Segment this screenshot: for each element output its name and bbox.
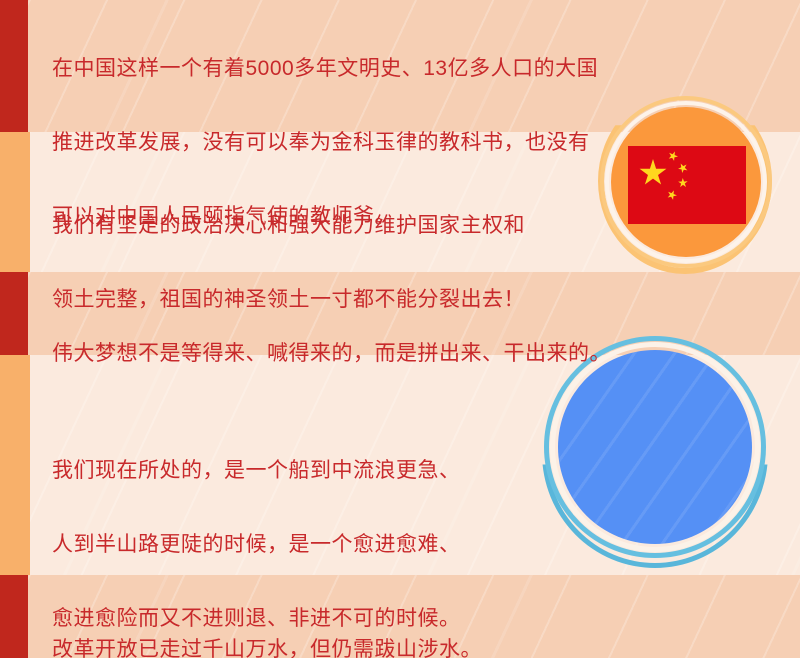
quote-line: 改革开放已走过千山万水，但仍需跋山涉水。 bbox=[52, 631, 612, 658]
quote-line: 推进改革发展，没有可以奉为金科玉律的教科书，也没有 bbox=[52, 124, 672, 161]
flag-star-small-2-icon bbox=[676, 161, 690, 175]
quote-line: 伟大梦想不是等得来、喊得来的，而是拼出来、干出来的。 bbox=[52, 335, 652, 372]
quote-text-5: 改革开放已走过千山万水，但仍需跋山涉水。 bbox=[52, 594, 612, 658]
quote-line: 人到半山路更陡的时候，是一个愈进愈难、 bbox=[52, 526, 552, 563]
accent-bar-5 bbox=[0, 575, 28, 658]
quote-line: 我们现在所处的，是一个船到中流浪更急、 bbox=[52, 452, 552, 489]
quote-line: 在中国这样一个有着5000多年文明史、13亿多人口的大国 bbox=[52, 50, 672, 87]
poster-canvas: 在中国这样一个有着5000多年文明史、13亿多人口的大国 推进改革发展，没有可以… bbox=[0, 0, 800, 658]
accent-bar-1 bbox=[0, 0, 28, 132]
accent-bar-3 bbox=[0, 272, 28, 355]
quote-text-3: 伟大梦想不是等得来、喊得来的，而是拼出来、干出来的。 bbox=[52, 298, 652, 409]
flag-star-small-3-icon bbox=[677, 177, 690, 190]
accent-bar-2 bbox=[0, 132, 30, 272]
quote-line: 我们有坚定的政治决心和强大能力维护国家主权和 bbox=[52, 207, 612, 244]
accent-bar-4 bbox=[0, 355, 30, 575]
